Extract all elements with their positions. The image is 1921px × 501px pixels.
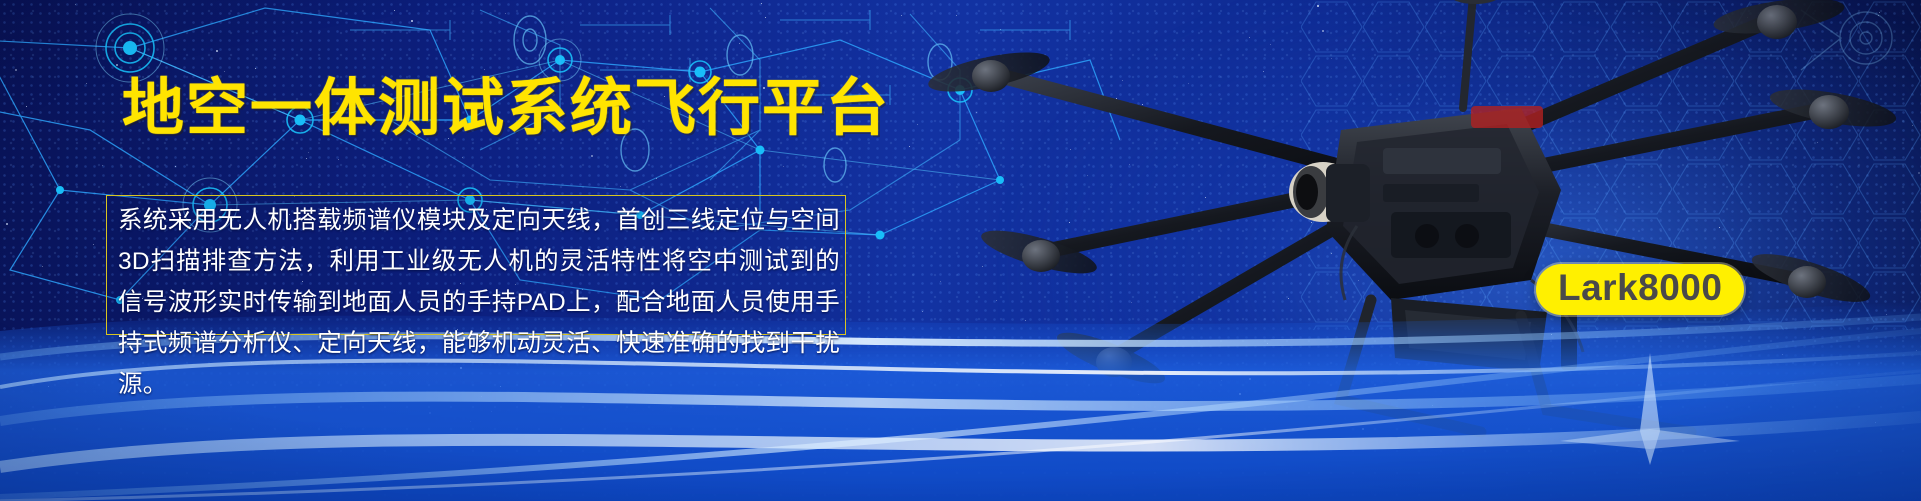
banner-description: 系统采用无人机搭载频谱仪模块及定向天线，首创三线定位与空间3D扫描排查方法，利用… [118,200,840,405]
product-model-badge: Lark8000 [1536,264,1744,315]
product-banner: 地空一体测试系统飞行平台 系统采用无人机搭载频谱仪模块及定向天线，首创三线定位与… [0,0,1921,501]
banner-title: 地空一体测试系统飞行平台 [122,78,890,140]
banner-content: 地空一体测试系统飞行平台 系统采用无人机搭载频谱仪模块及定向天线，首创三线定位与… [0,0,1921,501]
